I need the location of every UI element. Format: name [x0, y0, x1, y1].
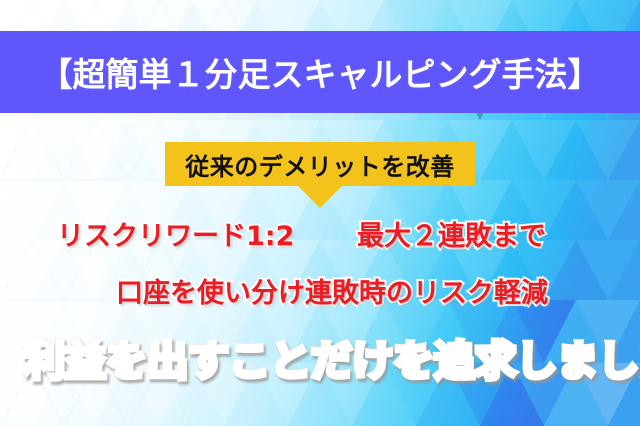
benefit-max-losses: 最大２連敗まで [357, 214, 546, 253]
subbanner-box: 従来のデメリットを改善 [165, 142, 475, 186]
title-banner: 【超簡単１分足スキャルピング手法】 [0, 31, 640, 113]
headline: 利益を出すことだけを追求しました [24, 327, 640, 387]
page-title: 【超簡単１分足スキャルピング手法】 [40, 48, 601, 96]
benefit-account-split: 口座を使い分け連敗時のリスク軽減 [116, 271, 548, 310]
subbanner: 従来のデメリットを改善 [165, 142, 475, 186]
subbanner-tail-icon [298, 186, 342, 208]
benefit-risk-reward: リスクリワード1:2 [57, 214, 294, 253]
subbanner-label: 従来のデメリットを改善 [185, 147, 455, 182]
promo-graphic: 【超簡単１分足スキャルピング手法】 従来のデメリットを改善 リスクリワード1:2… [0, 0, 640, 426]
